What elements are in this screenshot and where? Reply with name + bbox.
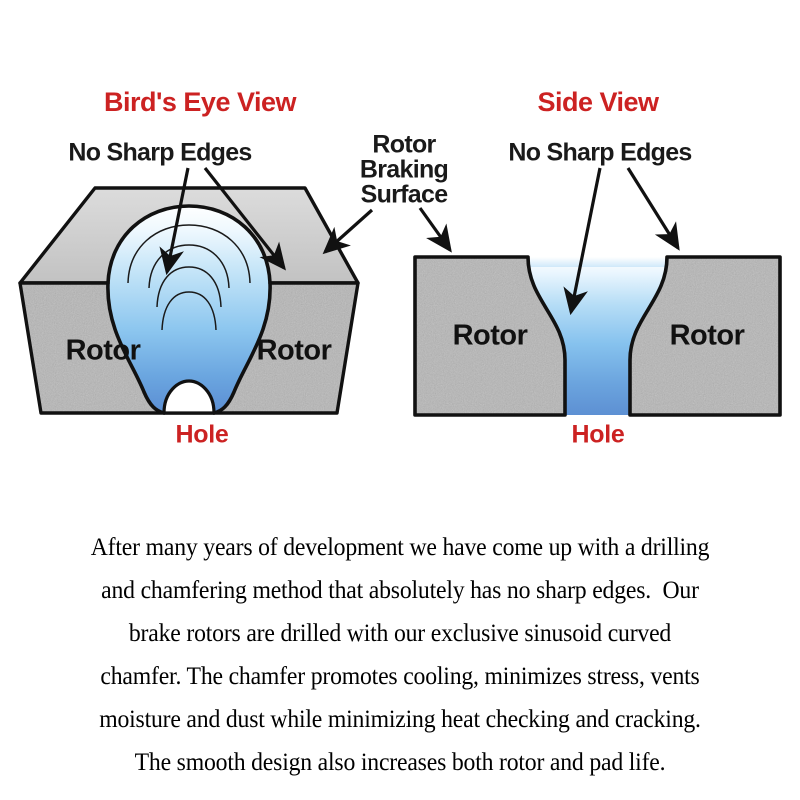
side-view-no-sharp-edges-label: No Sharp Edges — [508, 139, 691, 167]
caption-line: and chamfering method that absolutely ha… — [28, 568, 772, 611]
caption-line: moisture and dust while minimizing heat … — [28, 697, 772, 740]
caption-line: After many years of development we have … — [28, 525, 772, 568]
birds-eye-rotor-label-right: Rotor — [257, 335, 332, 367]
caption-line: The smooth design also increases both ro… — [28, 740, 772, 783]
side-view-rotor-label-right: Rotor — [670, 320, 745, 352]
rotor-chamfer-diagram: Bird's Eye View No Sharp Edges Rotor Bra… — [0, 0, 800, 480]
caption-line: brake rotors are drilled with our exclus… — [28, 611, 772, 654]
caption-line: chamfer. The chamfer promotes cooling, m… — [28, 654, 772, 697]
side-view-arrow-braking-surface — [420, 208, 450, 250]
side-view: Side View No Sharp Edges Rotor Rotor Hol… — [415, 87, 780, 448]
birds-eye-no-sharp-edges-label: No Sharp Edges — [68, 139, 251, 167]
side-view-rotor-label-left: Rotor — [453, 320, 528, 352]
rotor-braking-surface-line-2: Braking — [360, 156, 448, 184]
birds-eye-view: Bird's Eye View No Sharp Edges Rotor Bra… — [20, 87, 448, 448]
birds-eye-arrow-braking-surface — [325, 210, 372, 252]
rotor-braking-surface-line-1: Rotor — [372, 131, 436, 159]
side-view-title: Side View — [537, 87, 660, 117]
side-view-hole-label: Hole — [572, 421, 625, 449]
birds-eye-rotor-label-left: Rotor — [66, 335, 141, 367]
caption-paragraph: After many years of development we have … — [0, 525, 800, 783]
rotor-braking-surface-line-3: Surface — [361, 181, 449, 209]
birds-eye-view-title: Bird's Eye View — [104, 87, 298, 117]
birds-eye-hole-label: Hole — [176, 421, 229, 449]
side-view-arrow-no-sharp-edges-right — [628, 168, 678, 248]
rotor-braking-surface-label: Rotor Braking Surface — [360, 131, 448, 209]
